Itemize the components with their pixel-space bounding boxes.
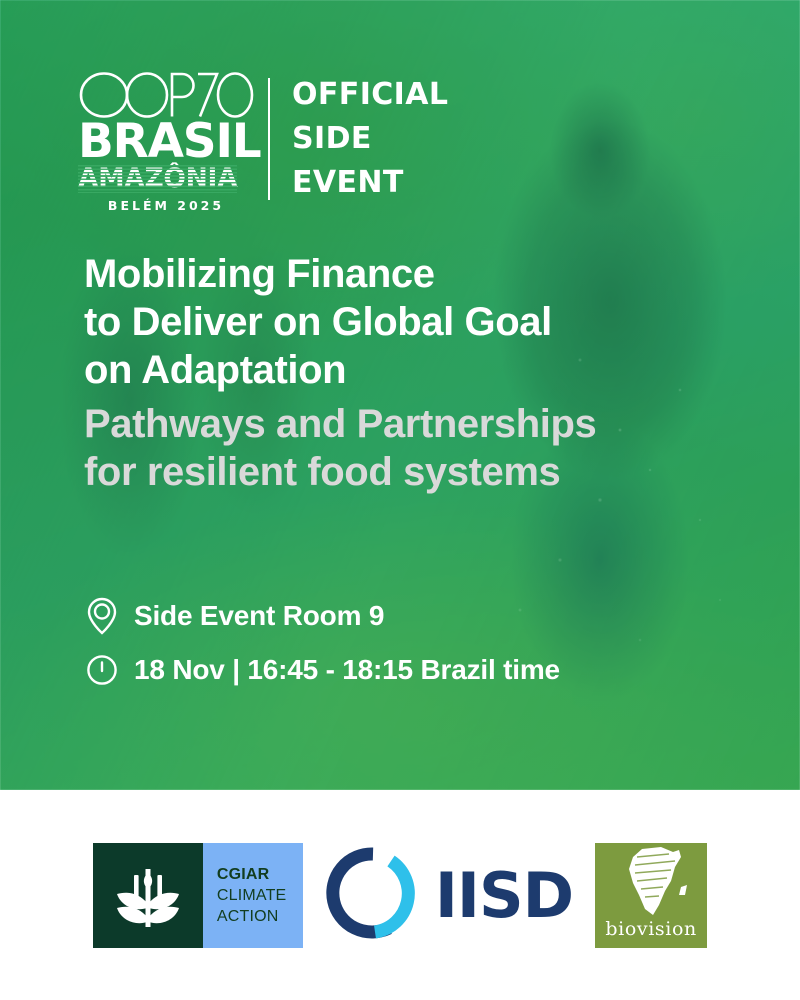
cop30-logo: BRASIL AMAZÔNIA BELÉM 2025 <box>78 72 254 213</box>
belem-2025-label: BELÉM 2025 <box>78 198 254 213</box>
cgiar-label: CGIAR <box>217 864 303 885</box>
badge-line-1: OFFICIAL <box>292 72 448 116</box>
subtitle-line-1: Pathways and Partnerships <box>84 400 734 448</box>
official-side-event-badge: OFFICIAL SIDE EVENT <box>292 72 448 204</box>
action-label: ACTION <box>217 906 303 927</box>
climate-label: CLIMATE <box>217 885 303 906</box>
time-text: 18 Nov | 16:45 - 18:15 Brazil time <box>134 654 560 686</box>
cop30-lockup: BRASIL AMAZÔNIA BELÉM 2025 OFFICIAL SIDE… <box>78 72 448 213</box>
title-line-3: on Adaptation <box>84 346 734 394</box>
event-poster: BRASIL AMAZÔNIA BELÉM 2025 OFFICIAL SIDE… <box>0 0 800 1000</box>
event-title: Mobilizing Finance to Deliver on Global … <box>84 250 734 496</box>
venue-text: Side Event Room 9 <box>134 600 384 632</box>
split-ring-icon <box>325 845 421 946</box>
clock-icon <box>84 650 120 690</box>
logo-biovision: biovision <box>595 843 707 948</box>
cop30-wordmark-icon <box>78 72 254 118</box>
location-pin-icon <box>84 596 120 636</box>
title-line-1: Mobilizing Finance <box>84 250 734 298</box>
biovision-wordmark: biovision <box>595 918 707 940</box>
venue-row: Side Event Room 9 <box>84 596 560 636</box>
hero-banner: BRASIL AMAZÔNIA BELÉM 2025 OFFICIAL SIDE… <box>0 0 800 790</box>
logo-cgiar: CGIAR CLIMATE ACTION <box>93 843 303 948</box>
amazonia-wordmark: AMAZÔNIA <box>78 165 237 193</box>
event-subtitle: Pathways and Partnerships for resilient … <box>84 400 734 496</box>
wheat-emblem-icon <box>93 843 203 948</box>
title-line-2: to Deliver on Global Goal <box>84 298 734 346</box>
cgiar-climate-action-text: CGIAR CLIMATE ACTION <box>203 843 303 948</box>
brasil-wordmark: BRASIL <box>78 120 254 164</box>
iisd-wordmark: IISD <box>435 859 573 932</box>
time-row: 18 Nov | 16:45 - 18:15 Brazil time <box>84 650 560 690</box>
event-details: Side Event Room 9 18 Nov | 16:45 - 18:15… <box>84 596 560 704</box>
badge-line-2: SIDE <box>292 116 448 160</box>
subtitle-line-2: for resilient food systems <box>84 448 734 496</box>
partner-logo-bar: CGIAR CLIMATE ACTION IISD <box>0 790 800 1000</box>
africa-map-icon <box>595 843 707 928</box>
lockup-divider <box>268 78 270 200</box>
logo-iisd: IISD <box>325 845 573 946</box>
badge-line-3: EVENT <box>292 160 448 204</box>
